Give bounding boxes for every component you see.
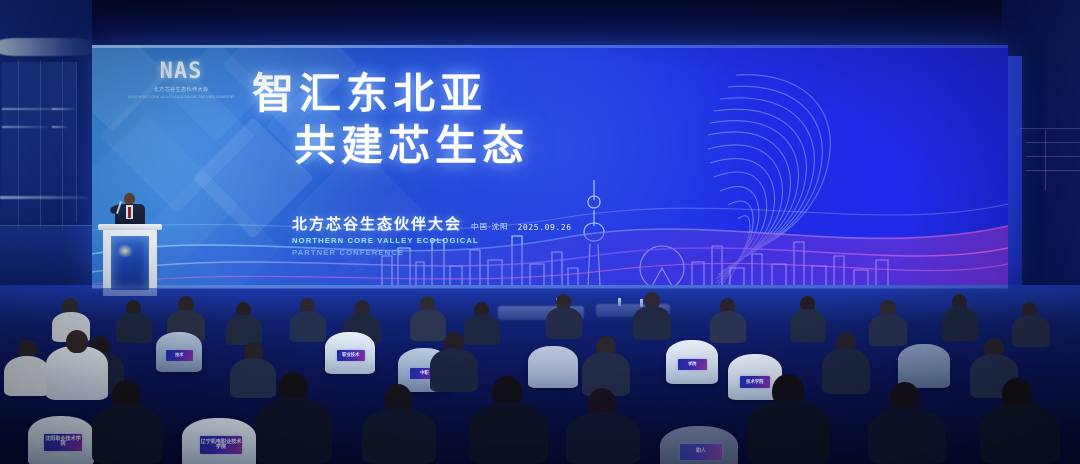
left-light-strip	[2, 126, 48, 128]
presenter-tie	[128, 207, 131, 218]
left-mullion	[62, 60, 63, 230]
headline-line-1: 智汇东北亚	[252, 73, 712, 115]
left-light-strip	[52, 126, 68, 128]
chair-name-card: 辽宁机电职业技术学院	[200, 436, 242, 454]
venue-ceiling	[0, 0, 1080, 48]
speaking-podium	[101, 224, 159, 296]
headline-line-2: 共建芯生态	[294, 125, 712, 167]
logo-mark-text: NAS	[128, 61, 234, 83]
audience-member	[256, 398, 332, 464]
audience-member	[790, 309, 826, 342]
audience-member	[748, 400, 830, 464]
chair-name-card: 沈阳职业技术学院	[44, 434, 82, 451]
right-railing-post	[1045, 130, 1046, 190]
logo-sub-cn: 北方芯谷生态伙伴大会	[128, 86, 234, 93]
right-railing	[1020, 128, 1080, 129]
audience-area: 技术 职业技术 中职 学院 技术学院	[0, 288, 1080, 464]
wave-graphic	[92, 168, 1008, 288]
left-curved-light-rail	[0, 38, 100, 56]
conference-stage-photo: NAS 北方芯谷生态伙伴大会 NORTHERN CORE VALLEY ECOL…	[0, 0, 1080, 464]
water-bottle	[640, 299, 643, 307]
audience-member	[980, 404, 1060, 464]
audience-member	[226, 315, 262, 345]
podium-front-panel	[111, 236, 149, 290]
audience-member	[362, 408, 436, 464]
water-bottle	[618, 298, 621, 306]
name-card-text: 辽宁机电职业技术学院	[200, 440, 241, 451]
audience-member	[92, 404, 162, 464]
left-mullion	[40, 60, 41, 230]
nas-logo: NAS 北方芯谷生态伙伴大会 NORTHERN CORE VALLEY ECOL…	[128, 61, 234, 99]
right-railing	[1026, 170, 1080, 171]
chair-name-card: 技术学院	[740, 376, 770, 388]
chair-name-card: 职人	[680, 444, 722, 460]
right-railing	[1026, 156, 1080, 157]
audience-member	[464, 315, 500, 345]
audience-member	[869, 314, 907, 346]
audience-member	[546, 307, 582, 339]
audience-member	[230, 358, 276, 398]
chair-name-card: 职业技术	[337, 350, 365, 361]
name-card-text: 沈阳职业技术学院	[44, 437, 81, 448]
chair	[528, 346, 578, 388]
name-card-text: 职业技术	[342, 353, 359, 358]
left-light-strip	[0, 196, 88, 199]
name-card-text: 中职	[420, 371, 429, 376]
presenter	[112, 193, 148, 227]
name-card-text: 职人	[696, 449, 706, 454]
screen-headline: 智汇东北亚 共建芯生态	[252, 73, 712, 167]
audience-member	[822, 348, 870, 394]
audience-member	[868, 408, 946, 464]
audience-member	[430, 348, 478, 392]
audience-member	[1012, 315, 1050, 347]
left-light-strip	[52, 108, 74, 110]
left-mullion	[18, 60, 19, 230]
audience-member	[46, 346, 108, 400]
audience-member	[470, 402, 548, 464]
audience-member	[4, 356, 50, 396]
audience-member	[566, 412, 640, 464]
right-railing	[1026, 142, 1080, 143]
logo-sub-en: NORTHERN CORE VALLEY ECOLOGICAL PARTNER …	[128, 95, 234, 99]
audience-member	[710, 311, 746, 343]
audience-member	[290, 311, 326, 342]
audience-member	[942, 307, 978, 341]
chair-name-card: 技术	[166, 350, 193, 361]
audience-member	[116, 313, 152, 343]
name-card-text: 学院	[688, 362, 696, 366]
chair-name-card: 学院	[678, 359, 707, 370]
audience-head	[66, 330, 88, 353]
led-stage-screen: NAS 北方芯谷生态伙伴大会 NORTHERN CORE VALLEY ECOL…	[92, 45, 1008, 288]
audience-member	[633, 306, 671, 340]
name-card-text: 技术	[175, 353, 183, 357]
audience-member	[410, 309, 446, 341]
name-card-text: 技术学院	[746, 380, 763, 385]
